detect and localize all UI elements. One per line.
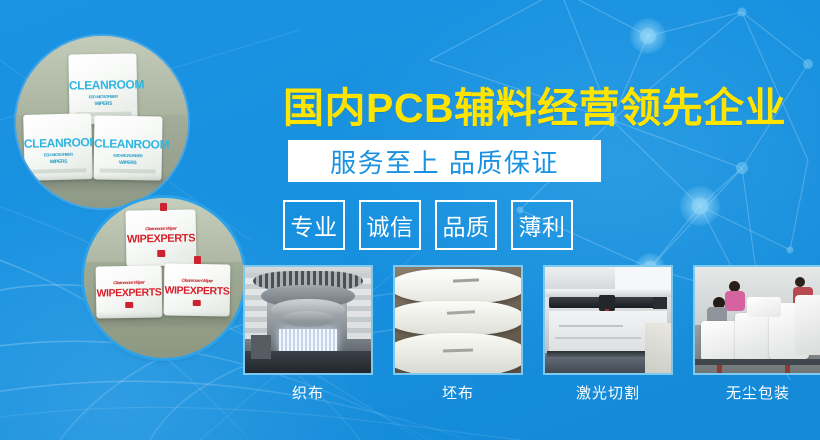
thumbnail-image-frame xyxy=(393,265,523,375)
process-thumbnail-weaving[interactable]: 织布 xyxy=(243,265,373,403)
thumbnail-caption: 激光切割 xyxy=(543,382,673,403)
feature-tag-label: 品质 xyxy=(443,208,490,242)
feature-tag-integrity[interactable]: 诚信 xyxy=(359,200,421,250)
thumbnail-caption: 坯布 xyxy=(393,382,523,403)
feature-tag-label: 薄利 xyxy=(519,208,566,242)
knitting-machine-image xyxy=(245,267,371,373)
process-thumbnail-list: 织布 坯布 xyxy=(243,265,813,403)
product-photo-wipexperts: Cleanroom Wiper WIPEXPERTS Cleanroom Wip… xyxy=(84,198,244,358)
page-title: 国内PCB辅料经营领先企业 xyxy=(283,74,786,134)
subtitle-bar: 服务至上 品质保证 xyxy=(288,140,601,182)
feature-tag-professional[interactable]: 专业 xyxy=(283,200,345,250)
cleanroom-packing-image xyxy=(695,267,820,373)
process-thumbnail-laser-cutting[interactable]: 激光切割 xyxy=(543,265,673,403)
thumbnail-caption: 无尘包装 xyxy=(693,382,820,403)
feature-tag-label: 专业 xyxy=(291,208,338,242)
product-photo-cleanroom-wipes: CLEANROOM ESD MICROFIBER WIPERS CLEANROO… xyxy=(16,36,188,208)
thumbnail-caption: 织布 xyxy=(243,382,373,403)
process-thumbnail-greige-fabric[interactable]: 坯布 xyxy=(393,265,523,403)
thumbnail-image-frame xyxy=(693,265,820,375)
feature-tag-low-margin[interactable]: 薄利 xyxy=(511,200,573,250)
feature-tag-label: 诚信 xyxy=(367,208,414,242)
subtitle-text: 服务至上 品质保证 xyxy=(330,143,559,180)
process-thumbnail-cleanroom-packing[interactable]: 无尘包装 xyxy=(693,265,820,403)
feature-tag-quality[interactable]: 品质 xyxy=(435,200,497,250)
feature-tag-list: 专业 诚信 品质 薄利 xyxy=(283,200,573,250)
thumbnail-image-frame xyxy=(243,265,373,375)
fabric-rolls-image xyxy=(395,267,521,373)
thumbnail-image-frame xyxy=(543,265,673,375)
promotional-banner: CLEANROOM ESD MICROFIBER WIPERS CLEANROO… xyxy=(0,0,820,440)
laser-cutter-image xyxy=(545,267,671,373)
